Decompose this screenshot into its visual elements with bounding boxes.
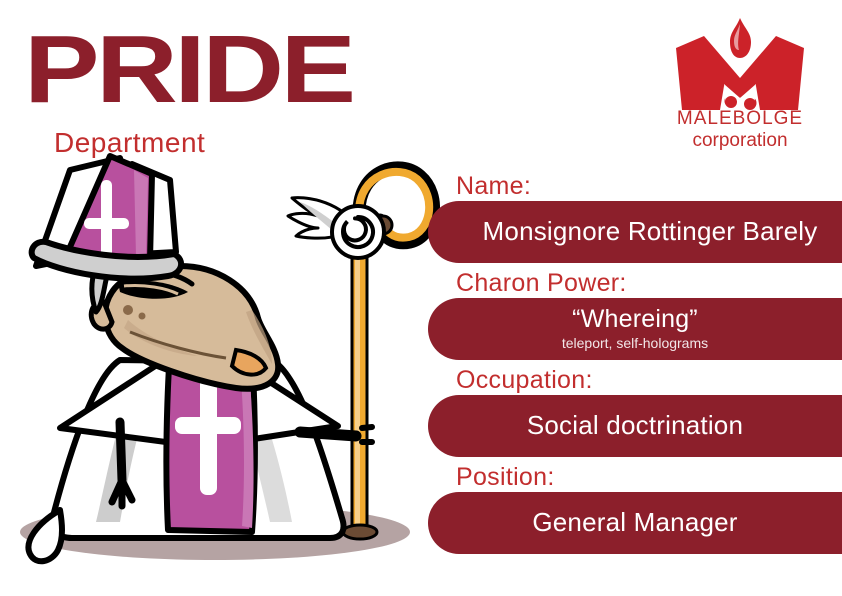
- field-value-occupation: Social doctrination: [527, 409, 743, 441]
- field-value-name: Monsignore Rottinger Barely: [483, 215, 818, 247]
- field-subvalue-charon-power: teleport, self-holograms: [562, 335, 708, 352]
- company-suffix: corporation: [650, 130, 830, 152]
- field-label-occupation: Occupation:: [428, 366, 842, 394]
- field-bar-charon-power[interactable]: “Whereing” teleport, self-holograms: [428, 298, 842, 360]
- field-bar-name[interactable]: Monsignore Rottinger Barely: [428, 201, 842, 263]
- field-label-charon-power: Charon Power:: [428, 269, 842, 297]
- field-value-position: General Manager: [532, 506, 737, 538]
- bishop-character-illustration: [0, 150, 440, 596]
- winged-spiral-emblem: [288, 198, 384, 258]
- field-bar-position[interactable]: General Manager: [428, 492, 842, 554]
- field-position: Position: General Manager: [428, 463, 842, 554]
- company-name: MALEBOLGE: [650, 108, 830, 130]
- company-logo-block: MALEBOLGE corporation: [650, 14, 830, 152]
- mitre-hat: [32, 156, 181, 279]
- field-name: Name: Monsignore Rottinger Barely: [428, 172, 842, 263]
- malebolge-m-flame-icon: [674, 14, 806, 114]
- field-bar-occupation[interactable]: Social doctrination: [428, 395, 842, 457]
- field-label-position: Position:: [428, 463, 842, 491]
- field-value-charon-power: “Whereing”: [572, 303, 698, 335]
- page-title: PRIDE: [24, 22, 353, 118]
- field-charon-power: Charon Power: “Whereing” teleport, self-…: [428, 269, 842, 360]
- character-profile-card: PRIDE Department MALEBOLGE corporation: [0, 0, 842, 596]
- field-label-name: Name:: [428, 172, 842, 200]
- field-occupation: Occupation: Social doctrination: [428, 366, 842, 457]
- info-panel: Name: Monsignore Rottinger Barely Charon…: [428, 172, 842, 560]
